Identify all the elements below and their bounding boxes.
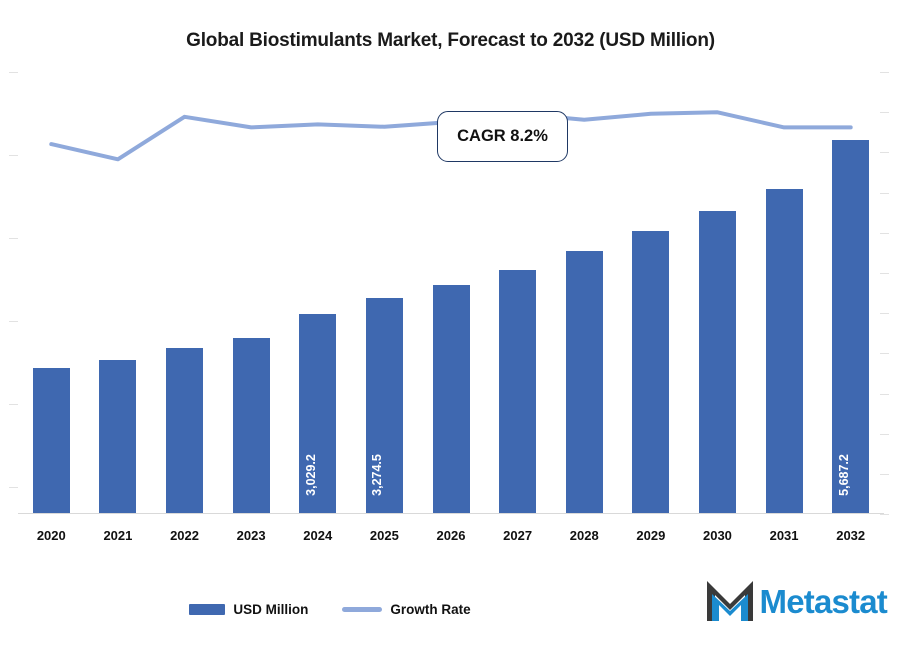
legend-item-usd-million[interactable]: USD Million (189, 602, 308, 617)
chart-legend: USD MillionGrowth Rate (0, 602, 660, 617)
x-axis-label-2027: 2027 (488, 528, 548, 543)
line-series-growth-rate (0, 0, 901, 651)
cagr-callout: CAGR 8.2% (437, 111, 568, 162)
legend-item-growth-rate[interactable]: Growth Rate (342, 602, 470, 617)
x-axis-label-2020: 2020 (21, 528, 81, 543)
growth-rate-path (0, 0, 901, 651)
x-axis-label-2022: 2022 (155, 528, 215, 543)
legend-label: Growth Rate (390, 602, 470, 617)
x-axis-label-2032: 2032 (821, 528, 881, 543)
x-axis-label-2021: 2021 (88, 528, 148, 543)
x-axis-label-2025: 2025 (354, 528, 414, 543)
x-axis-label-2028: 2028 (554, 528, 614, 543)
x-axis-label-2029: 2029 (621, 528, 681, 543)
x-axis-label-2023: 2023 (221, 528, 281, 543)
legend-line-swatch-icon (342, 607, 382, 612)
legend-bar-swatch-icon (189, 604, 225, 615)
x-axis-label-2030: 2030 (687, 528, 747, 543)
chart-figure: Global Biostimulants Market, Forecast to… (0, 0, 901, 651)
brand-logo: Metastat (704, 578, 887, 624)
x-axis-label-2026: 2026 (421, 528, 481, 543)
x-axis-label-2024: 2024 (288, 528, 348, 543)
legend-label: USD Million (233, 602, 308, 617)
x-axis-label-2031: 2031 (754, 528, 814, 543)
brand-name: Metastat (760, 585, 887, 618)
metastat-m-icon (704, 578, 756, 624)
